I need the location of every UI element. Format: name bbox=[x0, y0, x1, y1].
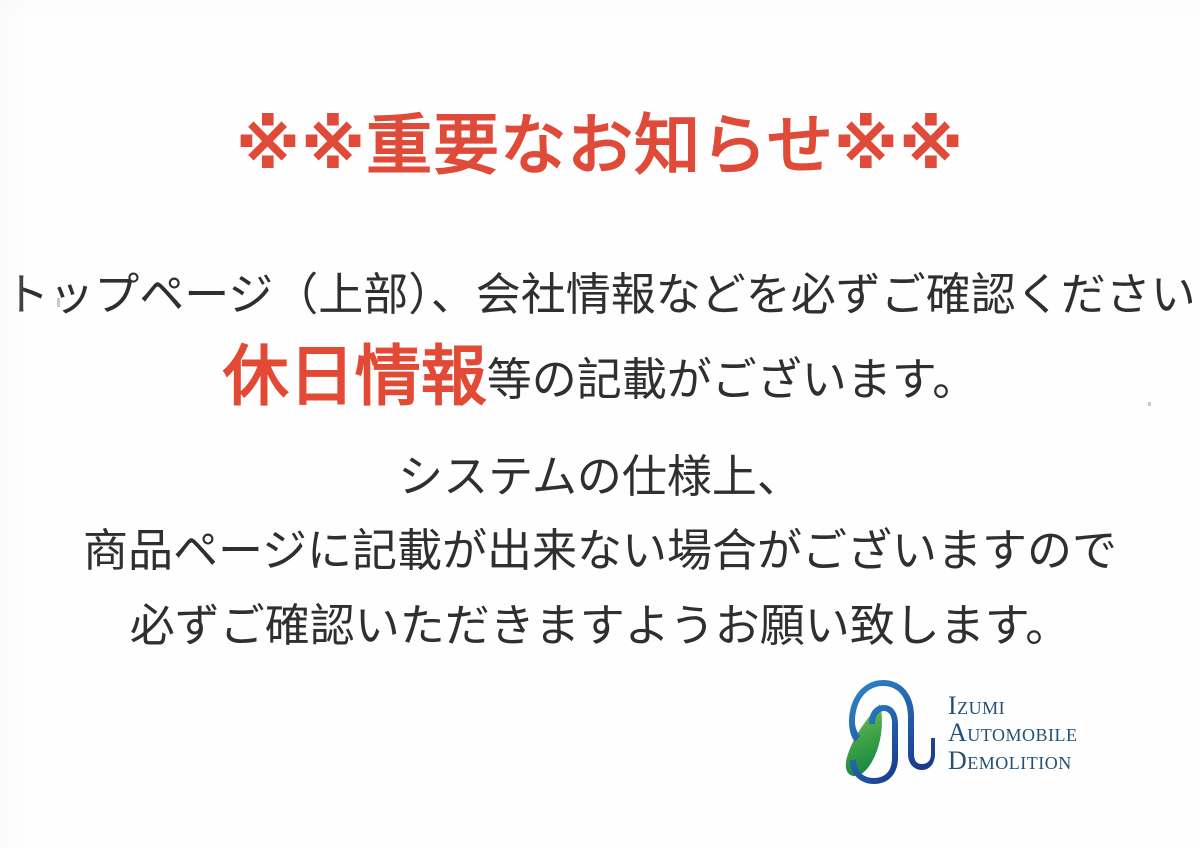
logo-word-demolition: Demolition bbox=[948, 747, 1077, 774]
company-logo: Izumi Automobile Demolition bbox=[836, 672, 1102, 794]
logo-word-izumi: Izumi bbox=[948, 692, 1077, 719]
notice-line-3: システムの仕様上、 bbox=[0, 448, 1200, 506]
notice-line-4: 商品ページに記載が出来ない場合がございますので bbox=[0, 522, 1200, 580]
notice-flyer: ※※重要なお知らせ※※ トップページ（上部）、会社情報などを必ずご確認ください … bbox=[0, 0, 1200, 848]
izumi-wave-leaf-mark bbox=[836, 678, 942, 788]
page-title: ※※重要なお知らせ※※ bbox=[0, 104, 1200, 186]
notice-line-2-rest: 等の記載がございます。 bbox=[487, 354, 978, 405]
notice-line-2: 休日情報等の記載がございます。 bbox=[0, 342, 1200, 427]
logo-wordmark: Izumi Automobile Demolition bbox=[948, 692, 1077, 773]
logo-word-automobile: Automobile bbox=[948, 719, 1077, 746]
notice-line-1: トップページ（上部）、会社情報などを必ずご確認ください bbox=[0, 266, 1200, 324]
holiday-info-highlight: 休日情報 bbox=[223, 339, 487, 413]
notice-line-5: 必ずご確認いただきますようお願い致します。 bbox=[0, 597, 1200, 655]
